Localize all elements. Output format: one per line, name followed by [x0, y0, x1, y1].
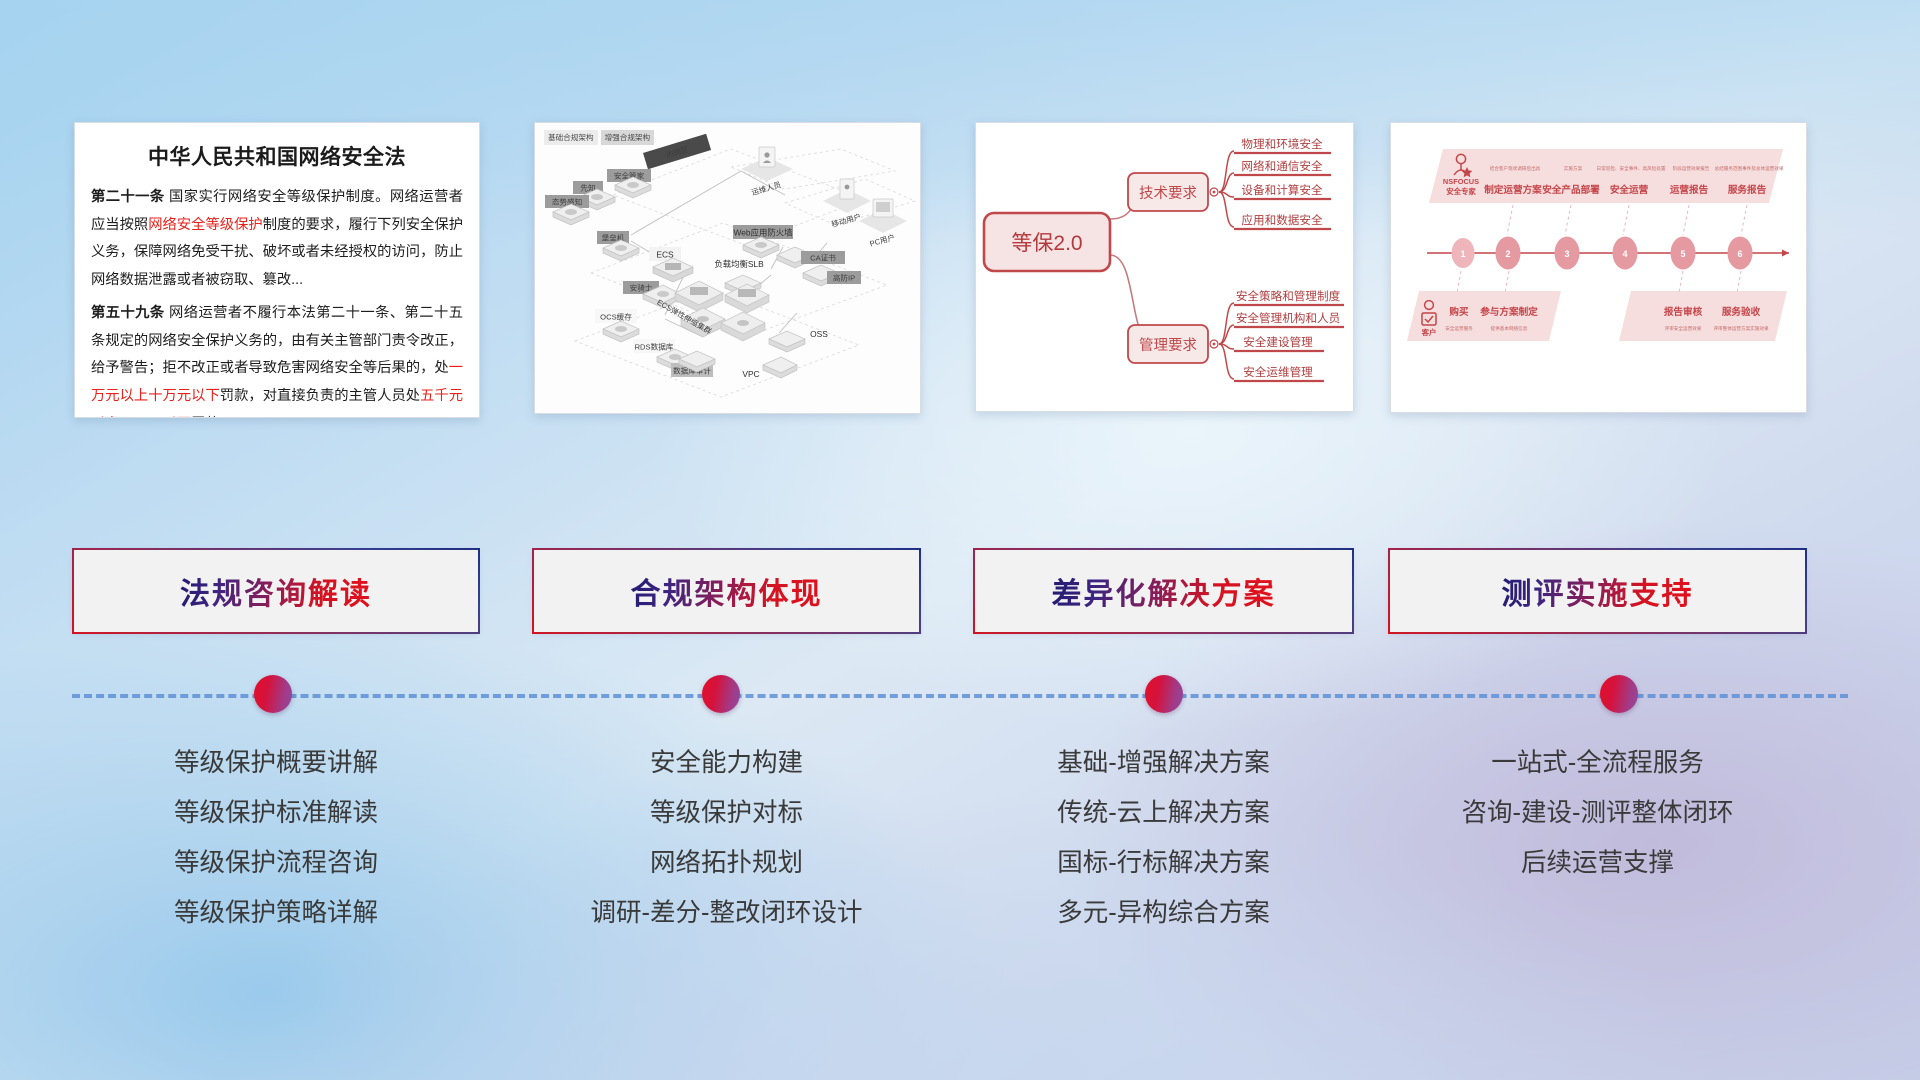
- timeline-dashed-line: [72, 694, 1848, 698]
- headline-label-2: 合规架构体现: [631, 569, 823, 613]
- law-article-21-highlight: 网络安全等级保护: [148, 217, 262, 233]
- list-item: 等级保护标准解读: [74, 788, 478, 838]
- arch-node-oss: OSS: [810, 329, 828, 339]
- mindmap-leaf-device-compute: 设备和计算安全: [1241, 183, 1323, 197]
- headline-box-differentiated-solution[interactable]: 差异化解决方案: [975, 550, 1352, 632]
- arch-node-pc-user: PC用户: [868, 232, 896, 249]
- arch-node-vpc: VPC: [742, 369, 759, 379]
- headline-box-compliance-architecture[interactable]: 合规架构体现: [534, 550, 919, 632]
- list-item: 传统-云上解决方案: [975, 788, 1352, 838]
- timeline-top-step-2-sub: 实施方案: [1564, 165, 1583, 172]
- headline-label-3: 差异化解决方案: [1052, 569, 1276, 613]
- card-compliance-architecture: 基础合规架构 增强合规架构: [534, 122, 921, 414]
- list-item: 多元-异构综合方案: [975, 888, 1352, 938]
- list-item: 调研-差分-整改闭环设计: [534, 888, 919, 938]
- list-item: 等级保护策略详解: [74, 888, 478, 938]
- timeline-bottom-step-3-sub: 评审安全运营效果: [1665, 325, 1702, 332]
- timeline-bottom-step-1-title: 购买: [1449, 306, 1469, 318]
- headline-row: 法规咨询解读 合规架构体现 差异化解决方案 测评实施支持: [0, 550, 1920, 650]
- arch-node-waf: Web应用防火墙: [734, 228, 794, 238]
- mindmap-diagram: 等保2.0 技术要求: [976, 123, 1353, 411]
- arch-node-anti-ddos-ip: 高防IP: [833, 273, 855, 283]
- timeline-bottom-step-2-title: 参与方案制定: [1480, 306, 1538, 318]
- mindmap-branch-tech: 技术要求: [1139, 185, 1197, 202]
- mindmap-leaf-policy-system: 安全策略和管理制度: [1236, 289, 1341, 303]
- timeline-node-6: 6: [1737, 249, 1742, 259]
- card-cybersecurity-law: 中华人民共和国网络安全法 第二十一条 国家实行网络安全等级保护制度。网络运营者应…: [74, 122, 480, 418]
- arch-node-slb: 负载均衡SLB: [714, 259, 764, 269]
- law-article-59-number: 第五十九条: [91, 305, 165, 321]
- timeline-bottom-step-4-sub: 评审整体运营方案实施效果: [1713, 325, 1769, 332]
- timeline-dot-1[interactable]: [254, 675, 292, 713]
- list-item: 一站式-全流程服务: [1390, 738, 1805, 788]
- headline-label-1: 法规咨询解读: [180, 569, 372, 613]
- timeline-expert-role-line2: 安全专家: [1446, 187, 1476, 196]
- timeline-top-step-3-sub: 日常巡检、安全事件、高风险处置: [1597, 165, 1666, 172]
- detail-column-4: 一站式-全流程服务 咨询-建设-测评整体闭环 后续运营支撑: [1390, 738, 1805, 888]
- timeline-dot-4[interactable]: [1600, 675, 1638, 713]
- timeline-top-step-1-sub: 结合客户现状调研后出具: [1490, 165, 1541, 172]
- list-item: 基础-增强解决方案: [975, 738, 1352, 788]
- timeline-top-step-5-sub: 总结服务范围事件及总体运营效果: [1715, 165, 1784, 172]
- arch-node-rds-database: RDS数据库: [635, 342, 674, 352]
- timeline-node-1: 1: [1460, 249, 1465, 259]
- card-service-timeline: NSFOCUS 安全专家 客户 制定运营方案 结合客户现状调研后出具 安全产品部…: [1390, 122, 1807, 413]
- timeline-bottom-step-3-title: 报告审核: [1664, 306, 1703, 318]
- list-item: 后续运营支撑: [1390, 838, 1805, 888]
- timeline-node-2: 2: [1505, 249, 1510, 259]
- law-article-59-text-c: 罚款。: [191, 416, 234, 418]
- timeline-expert-role-line1: NSFOCUS: [1443, 177, 1479, 186]
- mindmap-leaf-ops-mgmt: 安全运维管理: [1243, 365, 1313, 379]
- law-article-21-number: 第二十一条: [91, 189, 165, 205]
- mindmap-leaf-physical-env: 物理和环境安全: [1241, 137, 1323, 151]
- detail-column-3: 基础-增强解决方案 传统-云上解决方案 国标-行标解决方案 多元-异构综合方案: [975, 738, 1352, 938]
- timeline-bottom-step-1-sub: 安全运营服务: [1445, 325, 1473, 332]
- progress-timeline: [0, 660, 1920, 720]
- timeline-top-step-4-title: 运营报告: [1670, 184, 1709, 196]
- detail-column-1: 等级保护概要讲解 等级保护标准解读 等级保护流程咨询 等级保护策略详解: [74, 738, 478, 938]
- card-dengbao-mindmap: 等保2.0 技术要求: [975, 122, 1354, 412]
- timeline-top-step-4-sub: 阶段运营效果报告: [1673, 165, 1710, 172]
- arch-node-ca-cert: CA证书: [810, 253, 836, 263]
- headline-box-regulation-consulting[interactable]: 法规咨询解读: [74, 550, 478, 632]
- arch-node-ocs-cache: OCS缓存: [600, 312, 632, 322]
- list-item: 咨询-建设-测评整体闭环: [1390, 788, 1805, 838]
- timeline-dot-3[interactable]: [1145, 675, 1183, 713]
- timeline-node-4: 4: [1622, 249, 1627, 259]
- timeline-top-step-5-title: 服务报告: [1728, 184, 1767, 196]
- detail-column-2: 安全能力构建 等级保护对标 网络拓扑规划 调研-差分-整改闭环设计: [534, 738, 919, 938]
- list-item: 国标-行标解决方案: [975, 838, 1352, 888]
- illustration-cards: 中华人民共和国网络安全法 第二十一条 国家实行网络安全等级保护制度。网络运营者应…: [0, 122, 1920, 440]
- mindmap-leaf-network-comm: 网络和通信安全: [1241, 159, 1323, 173]
- mindmap-leaf-org-personnel: 安全管理机构和人员: [1236, 311, 1340, 325]
- list-item: 等级保护对标: [534, 788, 919, 838]
- mindmap-root-label: 等保2.0: [1011, 232, 1082, 255]
- timeline-top-step-2-title: 安全产品部署: [1542, 184, 1600, 196]
- timeline-top-step-1-title: 制定运营方案: [1484, 184, 1542, 196]
- arch-node-ecs: ECS: [656, 250, 674, 260]
- law-article-59-text-b: 罚款，对直接负责的主管人员处: [220, 388, 420, 404]
- service-timeline-diagram: NSFOCUS 安全专家 客户 制定运营方案 结合客户现状调研后出具 安全产品部…: [1391, 123, 1806, 412]
- law-title: 中华人民共和国网络安全法: [91, 141, 463, 171]
- mindmap-leaf-construction-mgmt: 安全建设管理: [1243, 335, 1313, 349]
- list-item: 等级保护流程咨询: [74, 838, 478, 888]
- timeline-top-step-3-title: 安全运营: [1610, 184, 1649, 196]
- timeline-node-5: 5: [1680, 249, 1685, 259]
- timeline-customer-role: 客户: [1421, 328, 1437, 337]
- architecture-diagram: 内网区 安全管家 先知: [535, 123, 920, 413]
- detail-lists: 等级保护概要讲解 等级保护标准解读 等级保护流程咨询 等级保护策略详解 安全能力…: [0, 738, 1920, 988]
- list-item: 网络拓扑规划: [534, 838, 919, 888]
- law-article-21: 第二十一条 国家实行网络安全等级保护制度。网络运营者应当按照网络安全等级保护制度…: [91, 184, 463, 294]
- headline-label-4: 测评实施支持: [1502, 569, 1694, 613]
- timeline-node-3: 3: [1564, 249, 1569, 259]
- arch-node-mobile-user: 移动用户: [830, 211, 862, 229]
- list-item: 等级保护概要讲解: [74, 738, 478, 788]
- law-article-59: 第五十九条 网络运营者不履行本法第二十一条、第二十五条规定的网络安全保护义务的，…: [91, 300, 463, 418]
- list-item: 安全能力构建: [534, 738, 919, 788]
- headline-box-assessment-support[interactable]: 测评实施支持: [1390, 550, 1805, 632]
- mindmap-leaf-app-data: 应用和数据安全: [1241, 213, 1323, 227]
- arch-node-situation-awareness: 态势感知: [552, 197, 582, 207]
- timeline-bottom-step-2-sub: 提供基本网络信息: [1491, 325, 1528, 332]
- mindmap-branch-mgmt: 管理要求: [1139, 337, 1197, 354]
- timeline-dot-2[interactable]: [702, 675, 740, 713]
- timeline-bottom-step-4-title: 服务验收: [1722, 306, 1761, 318]
